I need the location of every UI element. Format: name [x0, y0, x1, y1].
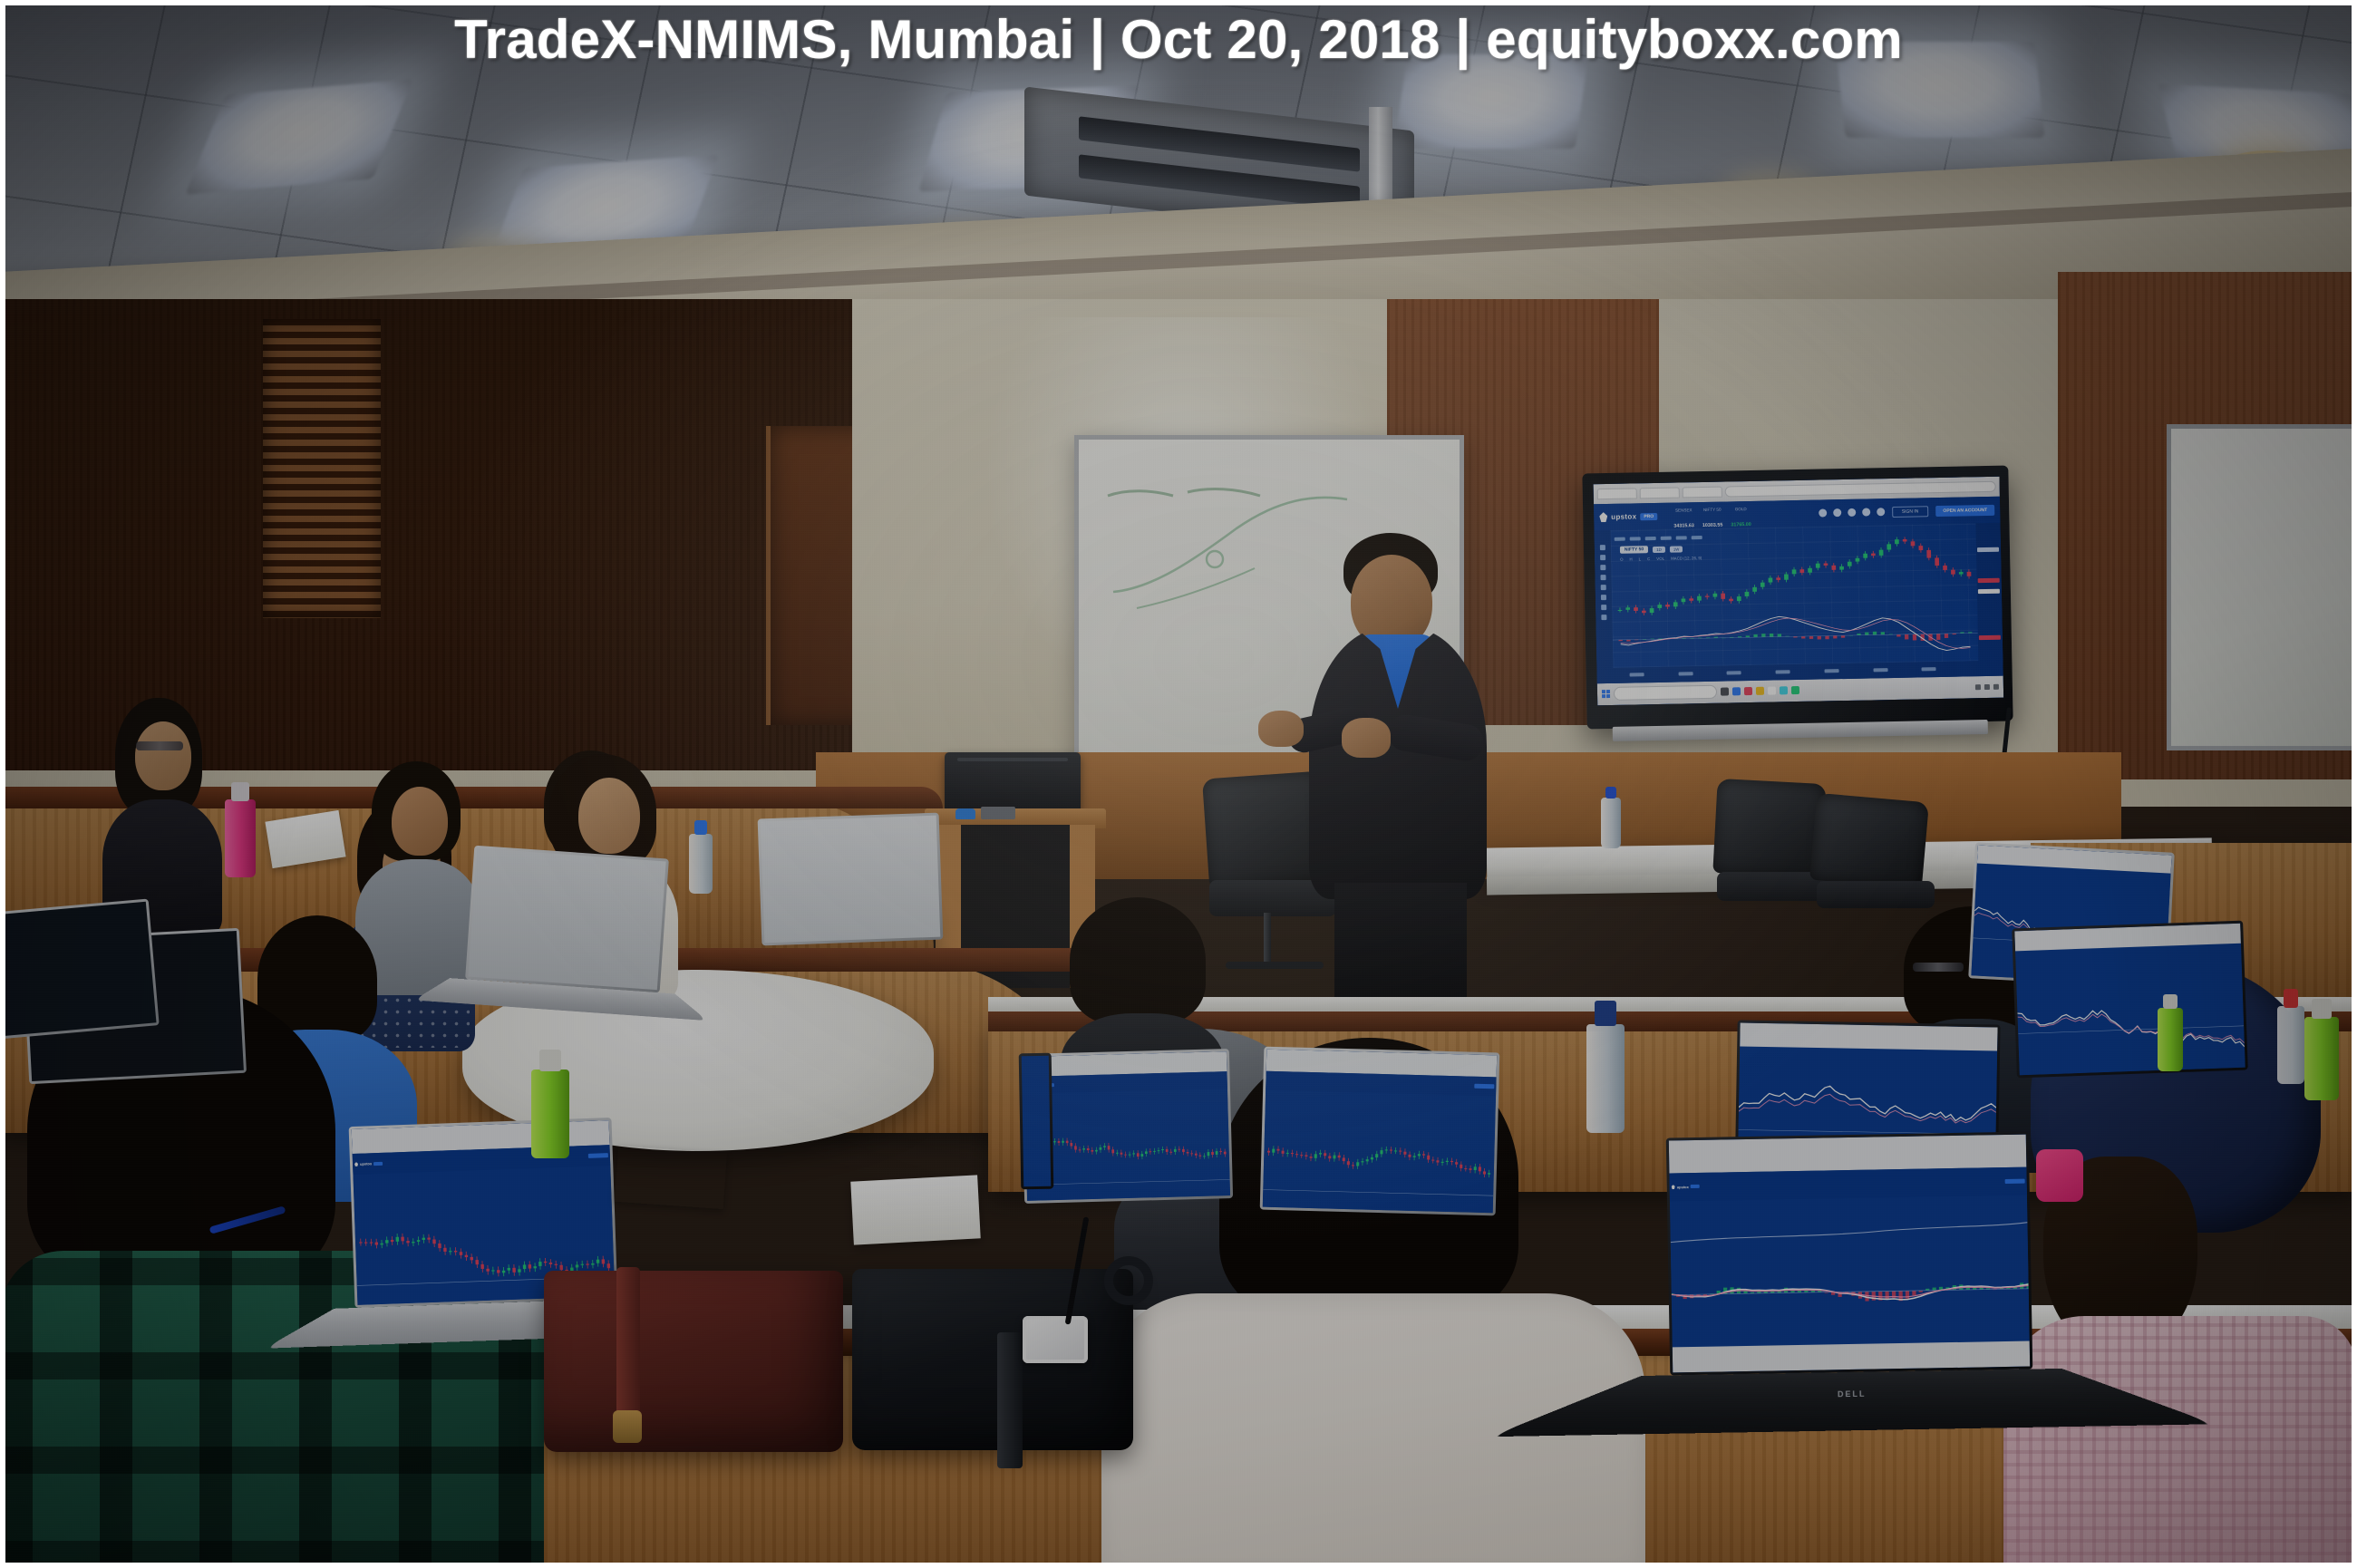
browser-tab[interactable]	[1640, 487, 1680, 499]
shapes-icon[interactable]	[1600, 575, 1605, 580]
presenter-clicker[interactable]	[955, 808, 975, 819]
satchel-strap	[616, 1267, 640, 1427]
time-tick	[1873, 668, 1887, 672]
presenter	[1295, 533, 1503, 1004]
laptop-round-table[interactable]	[465, 846, 669, 993]
user-icon[interactable]	[1833, 508, 1841, 517]
time-tick	[1824, 669, 1838, 673]
monitor-screen[interactable]	[1022, 1056, 1052, 1187]
lock-icon[interactable]	[1601, 615, 1606, 620]
hair	[1070, 897, 1206, 1024]
fib-icon[interactable]	[1600, 565, 1605, 570]
price-label	[1977, 547, 1999, 552]
ticker-name: SENSEX	[1675, 508, 1693, 512]
price-label-current	[1978, 589, 2000, 594]
upstox-mini: upstox	[1669, 1135, 2030, 1373]
menu-icon[interactable]	[1877, 508, 1885, 516]
time-tick	[1922, 667, 1936, 671]
upstox-mark-icon	[1599, 512, 1607, 522]
trendline-icon[interactable]	[1600, 555, 1605, 560]
upstox-mark-icon	[354, 1162, 358, 1166]
taskbar-app-icon[interactable]	[1744, 687, 1752, 695]
open-account-button[interactable]	[2005, 1178, 2025, 1183]
ticker-item[interactable]: NIFTY 50 10303.55	[1702, 499, 1722, 530]
upstox-app[interactable]: upstox PRO SENSEX 34315.63 NIFTY 50 1030…	[1594, 477, 2004, 706]
pink-object	[2036, 1149, 2083, 1202]
upstox-mini: upstox	[1023, 1051, 1230, 1201]
chair-post	[1264, 913, 1271, 967]
bell-icon[interactable]	[1848, 508, 1856, 517]
upstox-mini	[2014, 924, 2245, 1076]
brand-badge: PRO	[1640, 513, 1657, 520]
laptop-dell-front-right[interactable]: upstox DELL	[1666, 1132, 2033, 1376]
eyeglasses-icon	[136, 741, 183, 750]
open-account-button[interactable]	[588, 1153, 608, 1158]
taskbar-search-input[interactable]	[1614, 685, 1717, 701]
dell-logo: DELL	[1838, 1389, 1867, 1399]
taskbar-app-icon[interactable]	[1732, 688, 1741, 696]
open-account-button[interactable]	[1474, 1084, 1494, 1089]
network-icon[interactable]	[1975, 684, 1981, 690]
laptop-screen[interactable]: upstox	[1669, 1135, 2030, 1373]
lectern-control-pad[interactable]	[981, 807, 1015, 819]
monitor-lid	[1019, 1053, 1054, 1190]
taskbar-app-icon[interactable]	[1791, 686, 1799, 694]
head	[578, 778, 640, 854]
ticker-item[interactable]: GOLD 31765.00	[1731, 499, 1751, 530]
bottle-cap	[1605, 787, 1616, 799]
brand-wordmark: upstox	[360, 1162, 372, 1166]
laptop-lid	[465, 846, 669, 993]
macd-label	[1979, 635, 2001, 640]
laptop-screen[interactable]	[1263, 1050, 1497, 1214]
time-tick	[1629, 673, 1644, 676]
taskbar-app-icon[interactable]	[1780, 687, 1788, 695]
laptop-lid	[2012, 921, 2248, 1079]
laptop-screen[interactable]	[468, 848, 665, 990]
mini-candles	[1024, 1089, 1230, 1200]
bottle-cap	[231, 782, 248, 801]
system-tray[interactable]	[1975, 684, 1999, 690]
student-back-left	[95, 698, 231, 915]
laptop-far-right[interactable]	[2012, 921, 2248, 1079]
laptop-lid	[758, 813, 944, 946]
mini-macd	[1670, 1195, 2030, 1347]
lectern-monitor	[945, 752, 1081, 812]
white-smartphone[interactable]	[1023, 1316, 1088, 1363]
laptop-center-right[interactable]	[1260, 1047, 1500, 1216]
ceiling-panel-light	[1394, 54, 1589, 149]
display-bezel: upstox PRO SENSEX 34315.63 NIFTY 50 1030…	[1582, 466, 2013, 730]
acoustic-slat-panel	[263, 319, 381, 618]
chart-body	[1024, 1089, 1230, 1200]
chair-back	[1712, 779, 1826, 878]
head	[135, 721, 191, 790]
taskbar-app-icon[interactable]	[1721, 688, 1729, 696]
laptop-lid	[0, 899, 160, 1041]
mini-candles	[1263, 1090, 1496, 1213]
pink-check-shirt	[2003, 1316, 2357, 1568]
laptop-screen[interactable]: upstox	[1023, 1051, 1230, 1201]
laptop-round-table-2[interactable]	[758, 813, 944, 946]
browser-tab[interactable]	[1683, 486, 1722, 498]
ticker-value: 34315.63	[1673, 523, 1694, 528]
clear-water-bottle	[689, 834, 713, 894]
address-bar[interactable]	[1725, 481, 1996, 497]
ticker-strip: SENSEX 34315.63 NIFTY 50 10303.55 GOLD 3…	[1673, 499, 1751, 531]
water-bottle	[1601, 798, 1621, 848]
presenter-left-hand	[1258, 711, 1304, 747]
laptop-screen[interactable]	[2014, 924, 2245, 1076]
price-label-last	[1978, 577, 2000, 582]
bottle-cap	[2312, 999, 2331, 1019]
taskbar-app-icon[interactable]	[1768, 687, 1776, 695]
large-display[interactable]: upstox PRO SENSEX 34315.63 NIFTY 50 1030…	[1582, 466, 2013, 730]
green-water-bottle	[2304, 1017, 2339, 1100]
laptop-screen[interactable]	[761, 816, 941, 944]
green-water-bottle	[531, 1070, 569, 1158]
clear-water-bottle	[1586, 1024, 1625, 1133]
ticker-value: 31765.00	[1731, 522, 1751, 528]
pink-water-bottle	[225, 799, 256, 877]
monitor-mid-left[interactable]	[1019, 1053, 1054, 1190]
bottle-cap	[2284, 989, 2299, 1008]
brand-wordmark: upstox	[1677, 1185, 1689, 1189]
bag-strap-loop	[1104, 1256, 1153, 1305]
brand-wordmark: upstox	[1611, 512, 1636, 521]
laptop-lid: upstox	[1666, 1132, 2033, 1376]
chart-plot[interactable]: NIFTY 50 1D 1W O H L C VOL MACD (12, 26,	[1610, 523, 1978, 667]
candlestick-series	[1610, 523, 1978, 667]
head	[392, 787, 448, 856]
navbar-icons[interactable]	[1819, 508, 1885, 517]
brand-badge	[1691, 1185, 1700, 1188]
battery-icon[interactable]	[1993, 684, 1999, 690]
bottle-cap	[1595, 1001, 1616, 1027]
eyeglasses-icon	[1913, 963, 1964, 972]
maroon-leather-satchel	[544, 1271, 843, 1452]
search-icon[interactable]	[1819, 508, 1827, 517]
ticker-item[interactable]: SENSEX 34315.63	[1673, 500, 1694, 531]
time-tick	[1678, 672, 1693, 675]
presenter-trousers	[1334, 883, 1467, 1006]
star-icon[interactable]	[1862, 508, 1870, 517]
ticker-name: GOLD	[1735, 507, 1747, 511]
time-tick	[1776, 670, 1790, 673]
presenter-right-hand	[1342, 718, 1391, 758]
bottle-cap	[539, 1050, 561, 1071]
laptop-lid	[1260, 1047, 1500, 1216]
screenshot-root: upstox PRO SENSEX 34315.63 NIFTY 50 1030…	[0, 0, 2357, 1568]
upstox-logo[interactable]: upstox PRO	[1599, 511, 1657, 522]
price-axis[interactable]	[1976, 523, 2003, 661]
chart-body	[1263, 1090, 1496, 1213]
upstox-mini	[1263, 1050, 1497, 1214]
laptop-front-far-left[interactable]	[0, 899, 160, 1041]
ticker-name: NIFTY 50	[1703, 507, 1722, 511]
display-screen: upstox PRO SENSEX 34315.63 NIFTY 50 1030…	[1594, 477, 2004, 706]
papers	[615, 1146, 727, 1209]
windows-start-icon[interactable]	[1602, 690, 1610, 698]
bottle-cap	[694, 820, 708, 835]
whiteboard-right	[2167, 424, 2357, 750]
bag-strap	[997, 1332, 1023, 1468]
bottle-cap	[2163, 994, 2178, 1010]
time-tick	[1727, 671, 1741, 674]
measure-icon[interactable]	[1601, 595, 1606, 600]
mini-line	[2015, 944, 2245, 1075]
text-icon[interactable]	[1601, 585, 1606, 590]
black-laptop-bag	[852, 1269, 1133, 1450]
green-bottle-upper	[2158, 1008, 2183, 1071]
chart-body	[2015, 944, 2245, 1075]
sign-in-button[interactable]: SIGN IN	[1892, 506, 1929, 518]
red-cap-bottle	[2277, 1006, 2304, 1084]
chart-body	[1670, 1195, 2030, 1347]
open-account-button[interactable]: OPEN AN ACCOUNT	[1935, 504, 1994, 516]
ticker-value: 10303.55	[1702, 522, 1723, 528]
chart-area[interactable]: NIFTY 50 1D 1W O H L C VOL MACD (12, 26,	[1595, 523, 2003, 668]
papers	[850, 1175, 980, 1244]
brand-badge	[373, 1162, 383, 1166]
browser-tab[interactable]	[1597, 488, 1637, 500]
chair-seat	[1817, 881, 1935, 908]
volume-icon[interactable]	[1984, 684, 1990, 690]
taskbar-app-icon[interactable]	[1756, 687, 1764, 695]
chair-back	[1809, 793, 1929, 889]
magnet-icon[interactable]	[1601, 605, 1606, 610]
ceiling-panel-light	[1835, 42, 2044, 138]
upstox-mark-icon	[1672, 1185, 1675, 1189]
laptop-screen[interactable]	[0, 902, 156, 1038]
satchel-buckle	[613, 1410, 642, 1443]
crosshair-icon[interactable]	[1600, 545, 1605, 550]
